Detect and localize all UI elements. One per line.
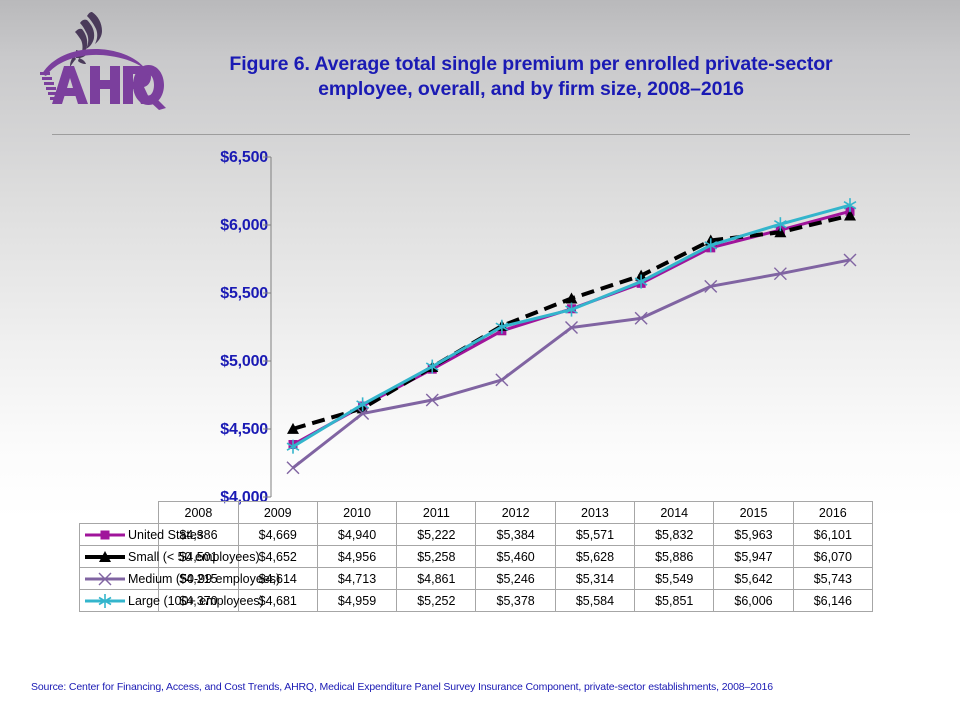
legend-label: Small (< 50 employees) (128, 550, 260, 564)
chart-plot-area: $6,500 $6,000 $5,500 $5,000 $4,500 $4,00… (0, 140, 960, 510)
data-point-x-marker (287, 462, 299, 474)
table-row: United States$4,386$4,669$4,940$5,222$5,… (80, 524, 873, 546)
column-header-2015: 2015 (714, 502, 793, 524)
row-header-united-states: United States (80, 524, 159, 546)
data-cell: $4,959 (317, 590, 396, 612)
data-cell: $5,571 (555, 524, 634, 546)
page-header: Figure 6. Average total single premium p… (0, 0, 960, 130)
table-row: Medium (50-99 employees)$4,215$4,614$4,7… (80, 568, 873, 590)
column-header-2016: 2016 (793, 502, 872, 524)
data-cell: $5,460 (476, 546, 555, 568)
ahrq-wordmark (40, 49, 166, 110)
legend-marker-triangle-icon (82, 549, 128, 565)
data-cell: $5,384 (476, 524, 555, 546)
data-cell: $6,006 (714, 590, 793, 612)
column-header-2008: 2008 (159, 502, 238, 524)
row-header-medium-50-99-employees: Medium (50-99 employees) (80, 568, 159, 590)
data-cell: $4,713 (317, 568, 396, 590)
data-cell: $5,886 (635, 546, 714, 568)
data-cell: $5,628 (555, 546, 634, 568)
data-cell: $5,584 (555, 590, 634, 612)
data-point-triangle-marker (566, 292, 578, 303)
data-table-body: 200820092010201120122013201420152016Unit… (80, 502, 873, 612)
data-cell: $5,743 (793, 568, 872, 590)
series-medium-50-99-employees (287, 254, 856, 474)
header-divider (52, 134, 910, 135)
data-cell: $6,101 (793, 524, 872, 546)
column-header-2012: 2012 (476, 502, 555, 524)
data-cell: $5,252 (397, 590, 476, 612)
data-cell: $5,642 (714, 568, 793, 590)
data-cell: $5,258 (397, 546, 476, 568)
data-cell: $5,314 (555, 568, 634, 590)
data-cell: $5,947 (714, 546, 793, 568)
legend-label: Large (100+ employees) (128, 594, 264, 608)
data-cell: $5,963 (714, 524, 793, 546)
column-header-2013: 2013 (555, 502, 634, 524)
hhs-eagle-icon (70, 12, 102, 67)
data-cell: $5,549 (635, 568, 714, 590)
series-line (293, 260, 850, 468)
series-large-100-employees (287, 198, 856, 454)
legend-marker-asterisk-icon (82, 593, 128, 609)
data-table-wrapper: 200820092010201120122013201420152016Unit… (79, 501, 873, 612)
row-header-small-50-employees: Small (< 50 employees) (80, 546, 159, 568)
table-row: Large (100+ employees)$4,370$4,681$4,959… (80, 590, 873, 612)
y-axis (263, 157, 271, 497)
legend-marker-x-icon (82, 571, 128, 587)
table-header-row: 200820092010201120122013201420152016 (80, 502, 873, 524)
chart-svg (0, 140, 960, 510)
slide-page: Figure 6. Average total single premium p… (0, 0, 960, 720)
column-header-2011: 2011 (397, 502, 476, 524)
data-cell: $4,956 (317, 546, 396, 568)
legend-label: United States (128, 528, 203, 542)
column-header-2009: 2009 (238, 502, 317, 524)
data-cell: $6,146 (793, 590, 872, 612)
page-title: Figure 6. Average total single premium p… (196, 52, 866, 102)
data-cell: $5,851 (635, 590, 714, 612)
row-header-large-100-employees: Large (100+ employees) (80, 590, 159, 612)
source-note: Source: Center for Financing, Access, an… (31, 681, 936, 693)
data-cell: $6,070 (793, 546, 872, 568)
data-cell: $4,669 (238, 524, 317, 546)
data-table: 200820092010201120122013201420152016Unit… (79, 501, 873, 612)
column-header-2014: 2014 (635, 502, 714, 524)
series-layer (287, 198, 856, 474)
legend-label: Medium (50-99 employees) (128, 572, 280, 586)
data-cell: $5,246 (476, 568, 555, 590)
data-cell: $5,378 (476, 590, 555, 612)
data-cell: $5,832 (635, 524, 714, 546)
legend-marker-square-icon (82, 527, 128, 543)
data-cell: $4,861 (397, 568, 476, 590)
data-cell: $4,940 (317, 524, 396, 546)
table-row: Small (< 50 employees)$4,501$4,652$4,956… (80, 546, 873, 568)
table-corner-cell (80, 502, 159, 524)
column-header-2010: 2010 (317, 502, 396, 524)
ahrq-logo (30, 6, 170, 110)
data-point-square-marker (101, 530, 110, 539)
data-cell: $5,222 (397, 524, 476, 546)
